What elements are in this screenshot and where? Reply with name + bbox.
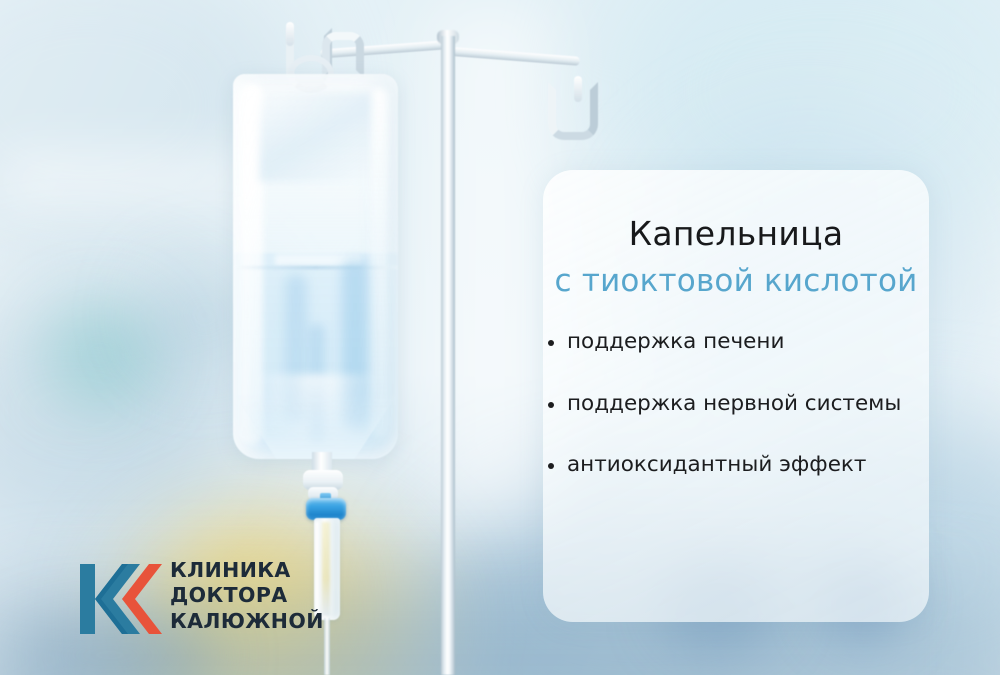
iv-pole-shaft: [441, 36, 455, 675]
benefit-label: поддержка нервной системы: [567, 391, 901, 416]
benefit-item: антиоксидантный эффект: [543, 451, 929, 479]
iv-pole-arm-right: [452, 47, 580, 66]
logo-line: КЛИНИКА: [170, 558, 330, 583]
iv-bag: [233, 74, 398, 459]
clinic-logo-text: КЛИНИКА ДОКТОРА КАЛЮЖНОЙ: [170, 558, 330, 634]
bullet-dot-icon: [548, 340, 554, 346]
iv-blue-cap: [306, 498, 346, 520]
benefit-label: антиоксидантный эффект: [567, 452, 866, 477]
clinic-logo[interactable]: КЛИНИКА ДОКТОРА КАЛЮЖНОЙ: [78, 554, 328, 646]
logo-line: КАЛЮЖНОЙ: [170, 609, 330, 634]
panel-title: Капельница: [543, 214, 929, 253]
benefits-list: поддержка печени поддержка нервной систе…: [543, 328, 929, 513]
iv-hook-icon: [286, 22, 294, 46]
bullet-dot-icon: [548, 463, 554, 469]
panel-subtitle: с тиоктовой кислотой: [537, 263, 935, 299]
iv-hook-icon: [548, 82, 598, 140]
iv-hook-icon: [574, 76, 582, 102]
benefit-item: поддержка печени: [543, 328, 929, 356]
iv-bag-fold: [259, 92, 371, 182]
info-panel-content: Капельница с тиоктовой кислотой поддержк…: [543, 170, 929, 622]
bullet-dot-icon: [548, 402, 554, 408]
benefit-item: поддержка нервной системы: [543, 390, 929, 418]
benefit-label: поддержка печени: [567, 329, 784, 354]
double-chevron-k-icon: [78, 560, 162, 638]
iv-bag-fluid-level: [233, 266, 398, 269]
logo-line: ДОКТОРА: [170, 583, 330, 608]
banner-stage: Капельница с тиоктовой кислотой поддержк…: [0, 0, 1000, 675]
